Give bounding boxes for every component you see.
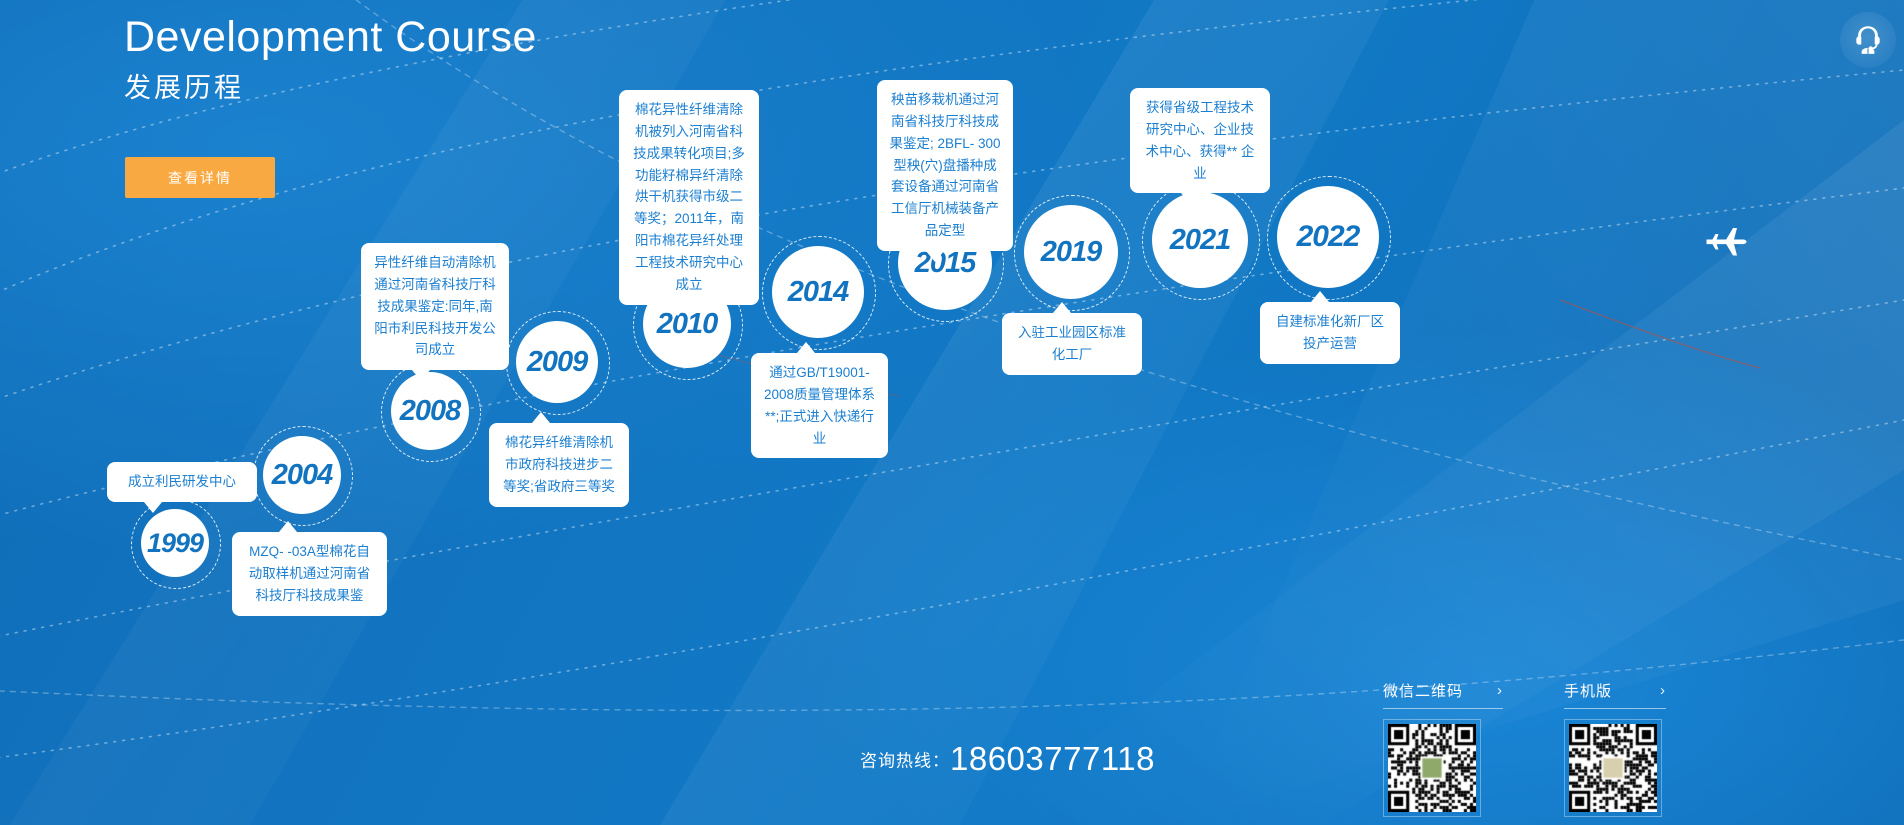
qr-image-wechat xyxy=(1383,719,1481,817)
timeline-year-2021[interactable]: 2021 xyxy=(1152,192,1248,288)
timeline-year-2008[interactable]: 2008 xyxy=(391,372,469,450)
timeline-caption-2008: 异性纤维自动清除机通过河南省科技厅科技成果鉴定:同年,南阳市利民科技开发公司成立 xyxy=(361,243,509,370)
timeline-caption-2014: 通过GB/T19001-2008质量管理体系**;正式进入快递行业 xyxy=(751,353,888,458)
page-title-cn: 发展历程 xyxy=(124,72,537,104)
timeline-caption-text: 入驻工业园区标准化工厂 xyxy=(1014,322,1130,366)
qr-label-wechat: 微信二维码 xyxy=(1383,680,1463,701)
bubble-tail xyxy=(279,521,297,532)
timeline-caption-2009: 棉花异纤维清除机市政府科技进步二等奖;省政府三等奖 xyxy=(489,423,629,507)
headset-support-icon xyxy=(1851,23,1885,57)
page-header: Development Course 发展历程 xyxy=(124,14,537,105)
chevron-right-icon: › xyxy=(1660,682,1666,699)
timeline-caption-text: MZQ- -03A型棉花自动取样机通过河南省科技厅科技成果鉴 xyxy=(244,541,375,607)
timeline-year-2022[interactable]: 2022 xyxy=(1277,186,1379,288)
timeline-caption-text: 棉花异性纤维清除机被列入河南省科技成果转化项目;多功能籽棉异纤清除烘干机获得市级… xyxy=(631,99,747,296)
timeline-caption-text: 获得省级工程技术研究中心、企业技术中心、获得** 企业 xyxy=(1142,97,1258,184)
timeline-year-2014[interactable]: 2014 xyxy=(772,246,864,338)
chevron-right-icon: › xyxy=(1497,682,1503,699)
hotline: 咨询热线：18603777118 xyxy=(860,740,1155,778)
qr-label-mobile: 手机版 xyxy=(1564,680,1612,701)
bubble-tail xyxy=(926,251,944,262)
timeline-caption-text: 棉花异纤维清除机市政府科技进步二等奖;省政府三等奖 xyxy=(501,432,617,498)
bubble-tail xyxy=(1053,302,1071,313)
bubble-tail xyxy=(532,412,550,423)
bubble-tail xyxy=(1311,291,1329,302)
timeline-caption-2021: 获得省级工程技术研究中心、企业技术中心、获得** 企业 xyxy=(1130,88,1270,193)
timeline-caption-text: 通过GB/T19001-2008质量管理体系**;正式进入快递行业 xyxy=(763,362,876,449)
airplane-marker xyxy=(1703,222,1749,267)
timeline-caption-text: 秧苗移栽机通过河南省科技厅科技成果鉴定; 2BFL- 300型秧(穴)盘播种成套… xyxy=(889,89,1001,242)
timeline-caption-2010: 棉花异性纤维清除机被列入河南省科技成果转化项目;多功能籽棉异纤清除烘干机获得市级… xyxy=(619,90,759,305)
bubble-tail xyxy=(144,502,162,513)
airplane-icon xyxy=(1703,222,1749,262)
hotline-number: 18603777118 xyxy=(950,740,1155,777)
timeline-caption-text: 成立利民研发中心 xyxy=(128,471,236,493)
timeline-caption-2019: 入驻工业园区标准化工厂 xyxy=(1002,313,1142,375)
timeline-year-2004[interactable]: 2004 xyxy=(263,436,341,514)
bubble-tail xyxy=(797,342,815,353)
timeline-caption-text: 异性纤维自动清除机通过河南省科技厅科技成果鉴定:同年,南阳市利民科技开发公司成立 xyxy=(373,252,497,361)
qr-block-mobile[interactable]: 手机版 › xyxy=(1564,680,1666,822)
hotline-label: 咨询热线： xyxy=(860,752,950,771)
timeline-year-2019[interactable]: 2019 xyxy=(1024,205,1118,299)
qr-head-mobile[interactable]: 手机版 › xyxy=(1564,680,1666,709)
timeline-year-1999[interactable]: 1999 xyxy=(141,509,209,577)
timeline-caption-2015: 秧苗移栽机通过河南省科技厅科技成果鉴定; 2BFL- 300型秧(穴)盘播种成套… xyxy=(877,80,1013,251)
timeline-caption-1999: 成立利民研发中心 xyxy=(107,462,257,502)
timeline-caption-2004: MZQ- -03A型棉花自动取样机通过河南省科技厅科技成果鉴 xyxy=(232,532,387,616)
qr-image-mobile xyxy=(1564,719,1662,817)
qr-block-wechat[interactable]: 微信二维码 › xyxy=(1383,680,1503,822)
qr-head-wechat[interactable]: 微信二维码 › xyxy=(1383,680,1503,709)
timeline-caption-text: 自建标准化新厂区投产运营 xyxy=(1272,311,1388,355)
bubble-tail xyxy=(1181,193,1199,204)
timeline-caption-2022: 自建标准化新厂区投产运营 xyxy=(1260,302,1400,364)
view-detail-button[interactable]: 查看详情 xyxy=(125,157,275,198)
bubble-tail xyxy=(669,305,687,316)
bubble-tail xyxy=(412,370,430,381)
customer-service-button[interactable] xyxy=(1840,12,1896,68)
timeline-year-2009[interactable]: 2009 xyxy=(516,321,598,403)
page-title-en: Development Course xyxy=(124,14,537,60)
